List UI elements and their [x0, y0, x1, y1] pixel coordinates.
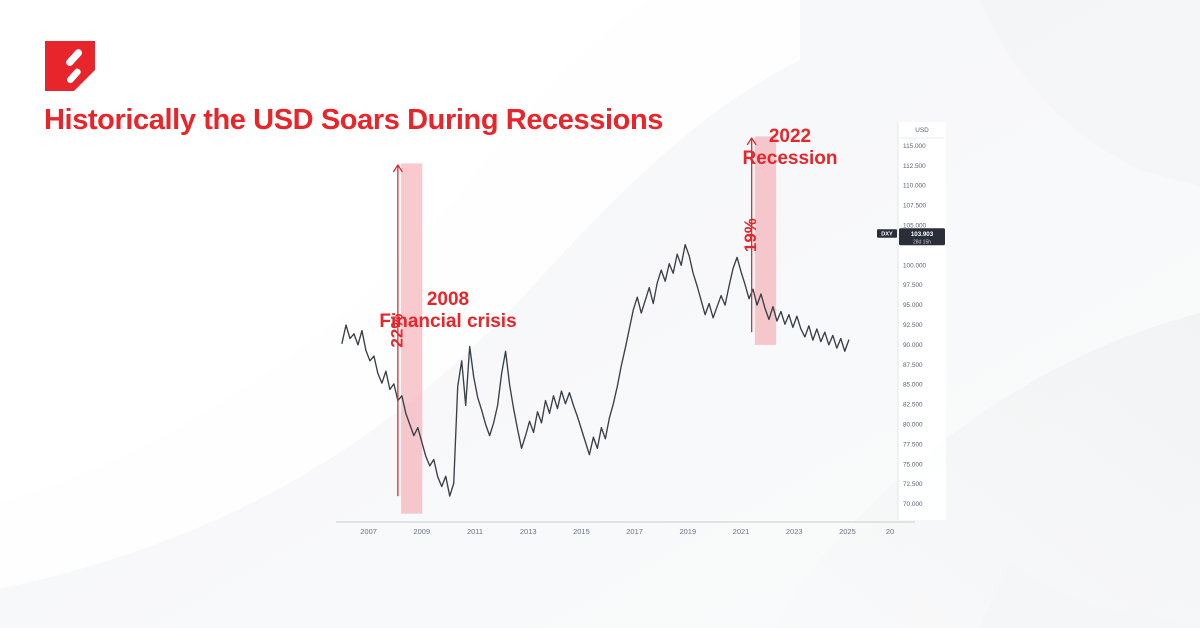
price-tick-112-500: 112.500 [903, 163, 926, 170]
price-tick-85-000: 85.000 [903, 382, 923, 389]
badge-price-value: 103.903 [911, 231, 934, 238]
price-tick-92-500: 92.500 [903, 322, 923, 329]
x-axis: 2007200920112013201520172019202120232025… [336, 522, 915, 536]
price-tick-97-500: 97.500 [903, 282, 923, 289]
x-axis-tick-2017: 2017 [626, 527, 643, 536]
price-tick-110-000: 110.000 [903, 183, 926, 190]
annotation-year-crisis-2008: 2008 [427, 289, 469, 310]
x-axis-tick-2023: 2023 [786, 527, 803, 536]
fx-pen-logo [44, 40, 96, 92]
badge-symbol-label: DXY [881, 232, 893, 238]
annotation-caption-crisis-2008: Financial crisis [379, 311, 516, 332]
price-tick-90-000: 90.000 [903, 342, 923, 349]
annotation-year-recession-2022: 2022 [769, 126, 811, 147]
price-tick-70-000: 70.000 [903, 501, 923, 508]
price-tick-87-500: 87.500 [903, 362, 923, 369]
price-tick-75-000: 75.000 [903, 461, 923, 468]
percent-label-recession-2022: 19% [741, 218, 760, 252]
badge-countdown: 28d 15h [913, 239, 931, 245]
x-axis-tick-20: 20 [886, 527, 894, 536]
x-axis-tick-2009: 2009 [413, 527, 430, 536]
x-axis-tick-2011: 2011 [467, 527, 483, 536]
price-tick-115-000: 115.000 [903, 143, 926, 150]
price-tick-72-500: 72.500 [903, 481, 923, 488]
x-axis-tick-2019: 2019 [679, 527, 696, 536]
x-axis-tick-2021: 2021 [733, 527, 750, 536]
dxy-chart[interactable]: 22%19% 2008Financial crisis2022Recession… [330, 120, 970, 540]
x-axis-tick-2013: 2013 [520, 527, 537, 536]
x-axis-tick-2015: 2015 [573, 527, 590, 536]
price-scale-header: USD [915, 127, 929, 134]
price-tick-107-500: 107.500 [903, 203, 927, 210]
price-tick-80-000: 80.000 [903, 421, 923, 428]
chart-canvas[interactable]: 22%19% 2008Financial crisis2022Recession… [330, 120, 970, 540]
last-price-badge[interactable]: DXY103.90328d 15h [877, 228, 945, 245]
price-tick-77-500: 77.500 [903, 441, 923, 448]
annotation-caption-recession-2022: Recession [742, 148, 837, 169]
price-scale[interactable]: USD115.000112.500110.000107.500105.00010… [877, 122, 946, 520]
x-axis-tick-2025: 2025 [839, 527, 856, 536]
price-tick-95-000: 95.000 [903, 302, 923, 309]
infographic-canvas: Historically the USD Soars During Recess… [0, 0, 1200, 628]
price-tick-82-500: 82.500 [903, 402, 923, 409]
x-axis-tick-2007: 2007 [360, 527, 377, 536]
price-tick-100-000: 100.000 [903, 262, 927, 269]
